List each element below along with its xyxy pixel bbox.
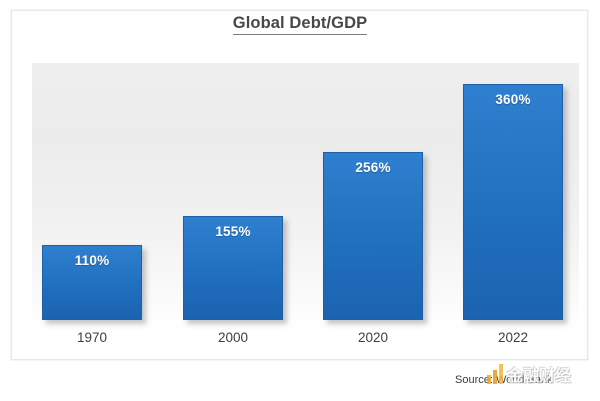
bar-slot-2020: 256%: [323, 152, 423, 320]
source-note: Source: World Bank: [455, 374, 553, 386]
bar-value-label-1970: 110%: [43, 253, 141, 268]
bar-1970[interactable]: 110%: [42, 245, 142, 320]
x-axis-label-2022: 2022: [463, 330, 563, 345]
chart-title: Global Debt/GDP: [0, 14, 600, 33]
bar-slot-1970: 110%: [42, 245, 142, 320]
chart-title-text: Global Debt/GDP: [233, 14, 367, 35]
bar-2020[interactable]: 256%: [323, 152, 423, 320]
bars-container: 110% 155% 256% 360%: [20, 52, 567, 320]
bar-value-label-2020: 256%: [324, 160, 422, 175]
x-axis-label-2000: 2000: [183, 330, 283, 345]
bar-2022[interactable]: 360%: [463, 84, 563, 320]
x-axis-label-2020: 2020: [323, 330, 423, 345]
bar-value-label-2000: 155%: [184, 224, 282, 239]
bar-slot-2022: 360%: [463, 84, 563, 320]
bar-value-label-2022: 360%: [464, 92, 562, 107]
bar-2000[interactable]: 155%: [183, 216, 283, 320]
bar-slot-2000: 155%: [183, 216, 283, 320]
x-axis-label-1970: 1970: [42, 330, 142, 345]
